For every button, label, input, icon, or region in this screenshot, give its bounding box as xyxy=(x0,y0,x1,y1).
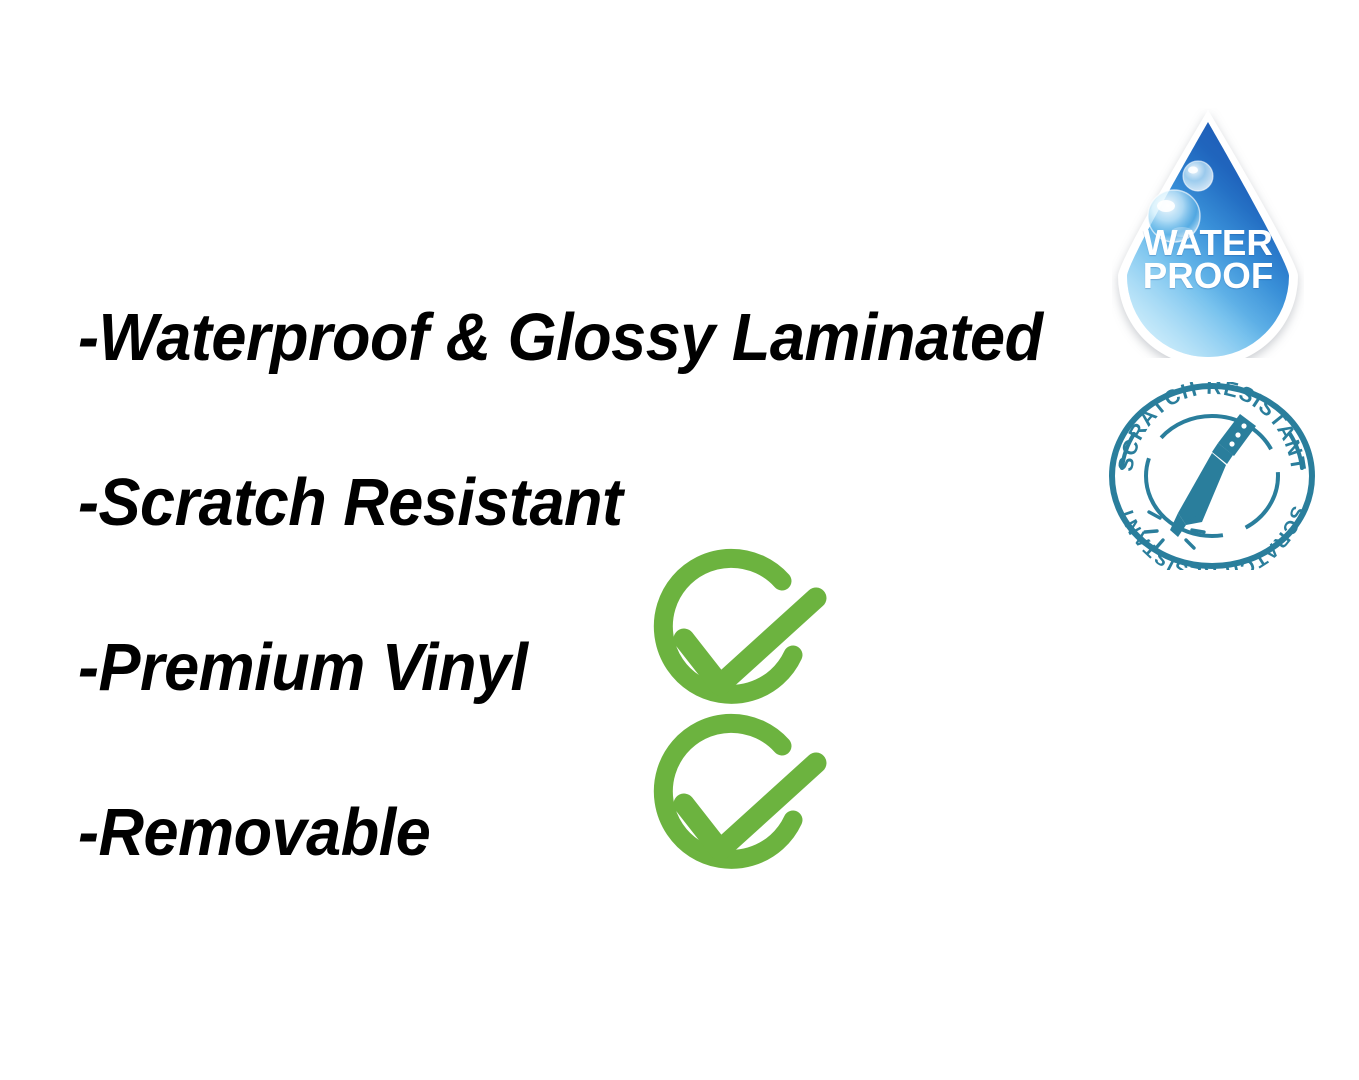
feature-callout-graphic: -Waterproof & Glossy Laminated -Scratch … xyxy=(0,0,1359,1080)
feature-item-premium-vinyl: -Premium Vinyl xyxy=(78,585,1088,750)
feature-label: -Scratch Resistant xyxy=(78,469,623,536)
knife-icon xyxy=(1170,414,1256,537)
check-circle-2 xyxy=(636,708,836,908)
feature-label: -Waterproof & Glossy Laminated xyxy=(78,304,1043,371)
check-circle-icon xyxy=(636,708,836,908)
feature-item-waterproof: -Waterproof & Glossy Laminated xyxy=(78,255,1088,420)
waterproof-badge: WATER PROOF xyxy=(1112,108,1304,358)
feature-label: -Removable xyxy=(78,799,430,866)
feature-item-scratch-resistant: -Scratch Resistant xyxy=(78,420,1088,585)
feature-item-removable: -Removable xyxy=(78,750,1088,915)
feature-label: -Premium Vinyl xyxy=(78,634,528,701)
water-drop-icon xyxy=(1112,108,1304,358)
feature-list: -Waterproof & Glossy Laminated -Scratch … xyxy=(78,255,1088,915)
knife-stamp-icon: SCRATCH RESISTANT SCRATCH RESISTANT xyxy=(1108,382,1316,570)
scratch-resistant-badge: SCRATCH RESISTANT SCRATCH RESISTANT xyxy=(1108,382,1316,570)
